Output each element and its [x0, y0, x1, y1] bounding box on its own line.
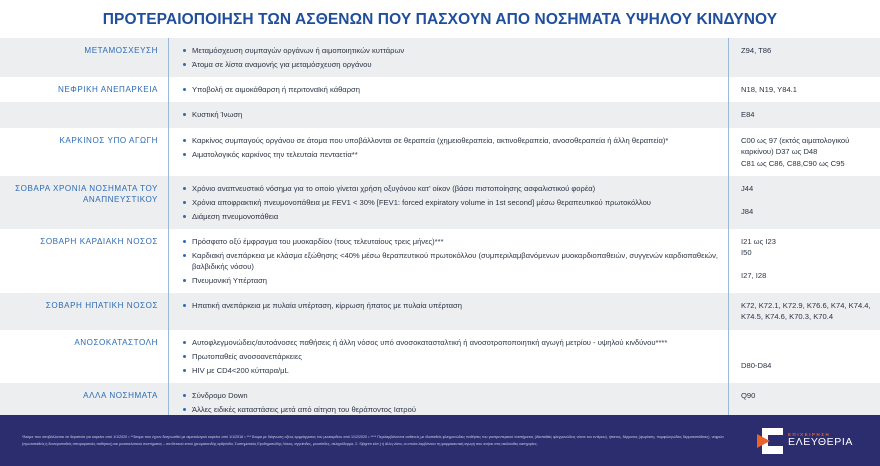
row-description: Καρκίνος συμπαγούς οργάνου σε άτομα που … [168, 128, 728, 176]
poster-root: ΠΡΟΤΕΡΑΙΟΠΟΙΗΣΗ ΤΩΝ ΑΣΘΕΝΩΝ ΠΟΥ ΠΑΣΧΟΥΝ … [0, 0, 880, 429]
logo-name: ΕΛΕΥΘΕΡΙΑ [788, 437, 853, 448]
row-icd-codes: J44 J84 [728, 176, 880, 229]
row-category: ΜΕΤΑΜΟΣΧΕΥΣΗ [0, 38, 168, 77]
bullet-item: HIV με CD4<200 κύτταρα/μL [183, 365, 720, 376]
bullet-item: Πνευμονική Υπέρταση [183, 275, 720, 286]
bullet-item: Αιματολογικός καρκίνος την τελευταία πεν… [183, 149, 720, 160]
row-category: ΝΕΦΡΙΚΗ ΑΝΕΠΑΡΚΕΙΑ [0, 77, 168, 102]
row-category: ΣΟΒΑΡΗ ΗΠΑΤΙΚΗ ΝΟΣΟΣ [0, 293, 168, 330]
bullet-item: Πρόσφατο οξύ έμφραγμα του μυοκαρδίου (το… [183, 236, 720, 247]
row-icd-codes: I21 ως I23 I50 I27, I28 [728, 229, 880, 293]
bullet-item: Υποβολή σε αιμοκάθαρση ή περιτοναϊκή κάθ… [183, 84, 720, 95]
bullet-item: Πρωτοπαθείς ανοσοανεπάρκειες [183, 351, 720, 362]
conditions-table: ΜΕΤΑΜΟΣΧΕΥΣΗΜεταμόσχευση συμπαγών οργάνω… [0, 38, 880, 429]
bullet-list: Χρόνιο αναπνευστικό νόσημα για το οποίο … [183, 183, 720, 222]
row-icd-codes: N18, N19, Y84.1 [728, 77, 880, 102]
row-description: Πρόσφατο οξύ έμφραγμα του μυοκαρδίου (το… [168, 229, 728, 293]
table-row: ΣΟΒΑΡΑ ΧΡΟΝΙΑ ΝΟΣΗΜΑΤΑ ΤΟΥ ΑΝΑΠΝΕΥΣΤΙΚΟΥ… [0, 176, 880, 229]
bullet-item: Διάμεση πνευμονοπάθεια [183, 211, 720, 222]
bullet-item: Καρδιακή ανεπάρκεια με κλάσμα εξώθησης <… [183, 250, 720, 272]
table-row: ΣΟΒΑΡΗ ΚΑΡΔΙΑΚΗ ΝΟΣΟΣΠρόσφατο οξύ έμφραγ… [0, 229, 880, 293]
footer-bar: *Άτομα που υποβάλλονται σε θεραπεία για … [0, 415, 880, 466]
bullet-list: Καρκίνος συμπαγούς οργάνου σε άτομα που … [183, 135, 720, 160]
table-row: ΣΟΒΑΡΗ ΗΠΑΤΙΚΗ ΝΟΣΟΣΗπατική ανεπάρκεια μ… [0, 293, 880, 330]
footnotes-text: *Άτομα που υποβάλλονται σε θεραπεία για … [22, 434, 724, 447]
bullet-item: Καρκίνος συμπαγούς οργάνου σε άτομα που … [183, 135, 720, 146]
row-description: Ηπατική ανεπάρκεια με πυλαία υπέρταση, κ… [168, 293, 728, 330]
row-category: ΣΟΒΑΡΗ ΚΑΡΔΙΑΚΗ ΝΟΣΟΣ [0, 229, 168, 293]
row-description: Μεταμόσχευση συμπαγών οργάνων ή αιμοποιη… [168, 38, 728, 77]
table-row: ΜΕΤΑΜΟΣΧΕΥΣΗΜεταμόσχευση συμπαγών οργάνω… [0, 38, 880, 77]
bullet-list: Σύνδρομο DownΆλλες ειδικές καταστάσεις μ… [183, 390, 720, 415]
footnotes: *Άτομα που υποβάλλονται σε θεραπεία για … [0, 434, 730, 447]
bullet-list: Υποβολή σε αιμοκάθαρση ή περιτοναϊκή κάθ… [183, 84, 720, 95]
bullet-item: Χρόνιο αναπνευστικό νόσημα για το οποίο … [183, 183, 720, 194]
bullet-list: Μεταμόσχευση συμπαγών οργάνων ή αιμοποιη… [183, 45, 720, 70]
table-row: ΝΕΦΡΙΚΗ ΑΝΕΠΑΡΚΕΙΑΥποβολή σε αιμοκάθαρση… [0, 77, 880, 102]
row-category: ΑΝΟΣΟΚΑΤΑΣΤΟΛΗ [0, 330, 168, 383]
row-category: ΣΟΒΑΡΑ ΧΡΟΝΙΑ ΝΟΣΗΜΑΤΑ ΤΟΥ ΑΝΑΠΝΕΥΣΤΙΚΟΥ [0, 176, 168, 229]
epicheirisi-eleftheria-logo-icon [757, 428, 783, 454]
bullet-list: Πρόσφατο οξύ έμφραγμα του μυοκαρδίου (το… [183, 236, 720, 286]
row-icd-codes: D80-D84 [728, 330, 880, 383]
row-description: Χρόνιο αναπνευστικό νόσημα για το οποίο … [168, 176, 728, 229]
page-title: ΠΡΟΤΕΡΑΙΟΠΟΙΗΣΗ ΤΩΝ ΑΣΘΕΝΩΝ ΠΟΥ ΠΑΣΧΟΥΝ … [0, 0, 880, 38]
table-row: ΚΑΡΚΙΝΟΣ ΥΠΟ ΑΓΩΓΗΚαρκίνος συμπαγούς οργ… [0, 128, 880, 176]
row-icd-codes: Z94, T86 [728, 38, 880, 77]
logo: ΕΠΙΧΕΙΡΗΣΗ ΕΛΕΥΘΕΡΙΑ [730, 415, 880, 466]
row-description: Υποβολή σε αιμοκάθαρση ή περιτοναϊκή κάθ… [168, 77, 728, 102]
bullet-item: Σύνδρομο Down [183, 390, 720, 401]
bullet-item: Ηπατική ανεπάρκεια με πυλαία υπέρταση, κ… [183, 300, 720, 311]
bullet-list: Κυστική Ίνωση [183, 109, 720, 120]
bullet-item: Άλλες ειδικές καταστάσεις μετά από αίτησ… [183, 404, 720, 415]
table-row: ΑΝΟΣΟΚΑΤΑΣΤΟΛΗΑυτοφλεγμονώδεις/αυτοάνοσε… [0, 330, 880, 383]
bullet-item: Άτομα σε λίστα αναμονής για μεταμόσχευση… [183, 59, 720, 70]
bullet-item: Κυστική Ίνωση [183, 109, 720, 120]
bullet-item: Αυτοφλεγμονώδεις/αυτοάνοσες παθήσεις ή ά… [183, 337, 720, 348]
bullet-list: Ηπατική ανεπάρκεια με πυλαία υπέρταση, κ… [183, 300, 720, 311]
row-description: Κυστική Ίνωση [168, 102, 728, 127]
row-category [0, 102, 168, 127]
row-icd-codes: K72, K72.1, K72.9, K76.6, K74, K74.4, K7… [728, 293, 880, 330]
row-category: ΚΑΡΚΙΝΟΣ ΥΠΟ ΑΓΩΓΗ [0, 128, 168, 176]
bullet-item: Χρόνια αποφρακτική πνευμονοπάθεια με FEV… [183, 197, 720, 208]
bullet-item: Μεταμόσχευση συμπαγών οργάνων ή αιμοποιη… [183, 45, 720, 56]
table-row: Κυστική ΊνωσηE84 [0, 102, 880, 127]
logo-text: ΕΠΙΧΕΙΡΗΣΗ ΕΛΕΥΘΕΡΙΑ [788, 433, 853, 449]
bullet-list: Αυτοφλεγμονώδεις/αυτοάνοσες παθήσεις ή ά… [183, 337, 720, 376]
row-icd-codes: E84 [728, 102, 880, 127]
row-description: Αυτοφλεγμονώδεις/αυτοάνοσες παθήσεις ή ά… [168, 330, 728, 383]
row-icd-codes: C00 ως 97 (εκτός αιματολογικού καρκίνου)… [728, 128, 880, 176]
